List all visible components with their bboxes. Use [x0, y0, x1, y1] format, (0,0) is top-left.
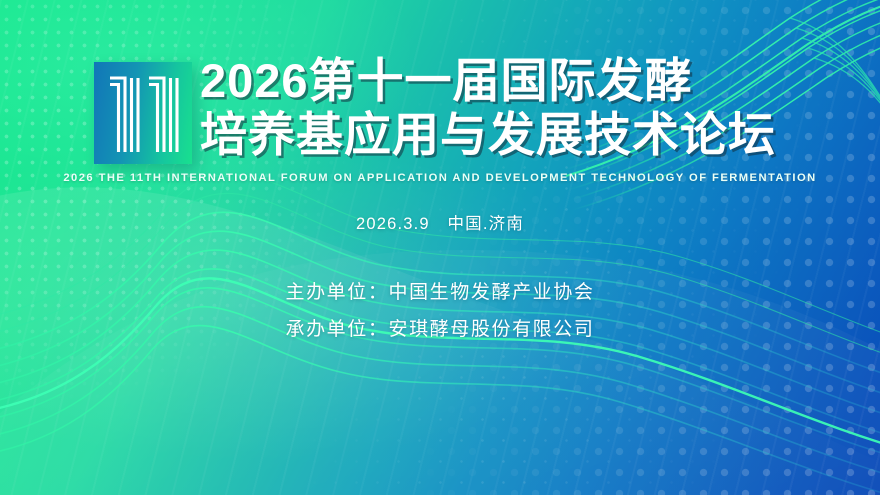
english-subtitle: 2026 THE 11TH INTERNATIONAL FORUM ON APP…	[0, 172, 880, 184]
co-organizer-line: 承办单位：安琪酵母股份有限公司	[0, 314, 880, 341]
title-line-1: 2026第十一届国际发酵	[200, 57, 820, 104]
event-meta-block: 2026.3.9 中国.济南 主办单位：中国生物发酵产业协会 承办单位：安琪酵母…	[0, 210, 880, 341]
host-organizer-line: 主办单位：中国生物发酵产业协会	[0, 277, 880, 304]
edition-number-logo	[94, 62, 192, 164]
eleven-outline-icon	[94, 62, 192, 164]
headline-block: 2026第十一届国际发酵 培养基应用与发展技术论坛	[200, 57, 820, 172]
date-location-line: 2026.3.9 中国.济南	[0, 210, 880, 234]
event-banner: 2026第十一届国际发酵 培养基应用与发展技术论坛 2026 THE 11TH …	[0, 0, 880, 495]
title-line-2: 培养基应用与发展技术论坛	[200, 111, 820, 158]
